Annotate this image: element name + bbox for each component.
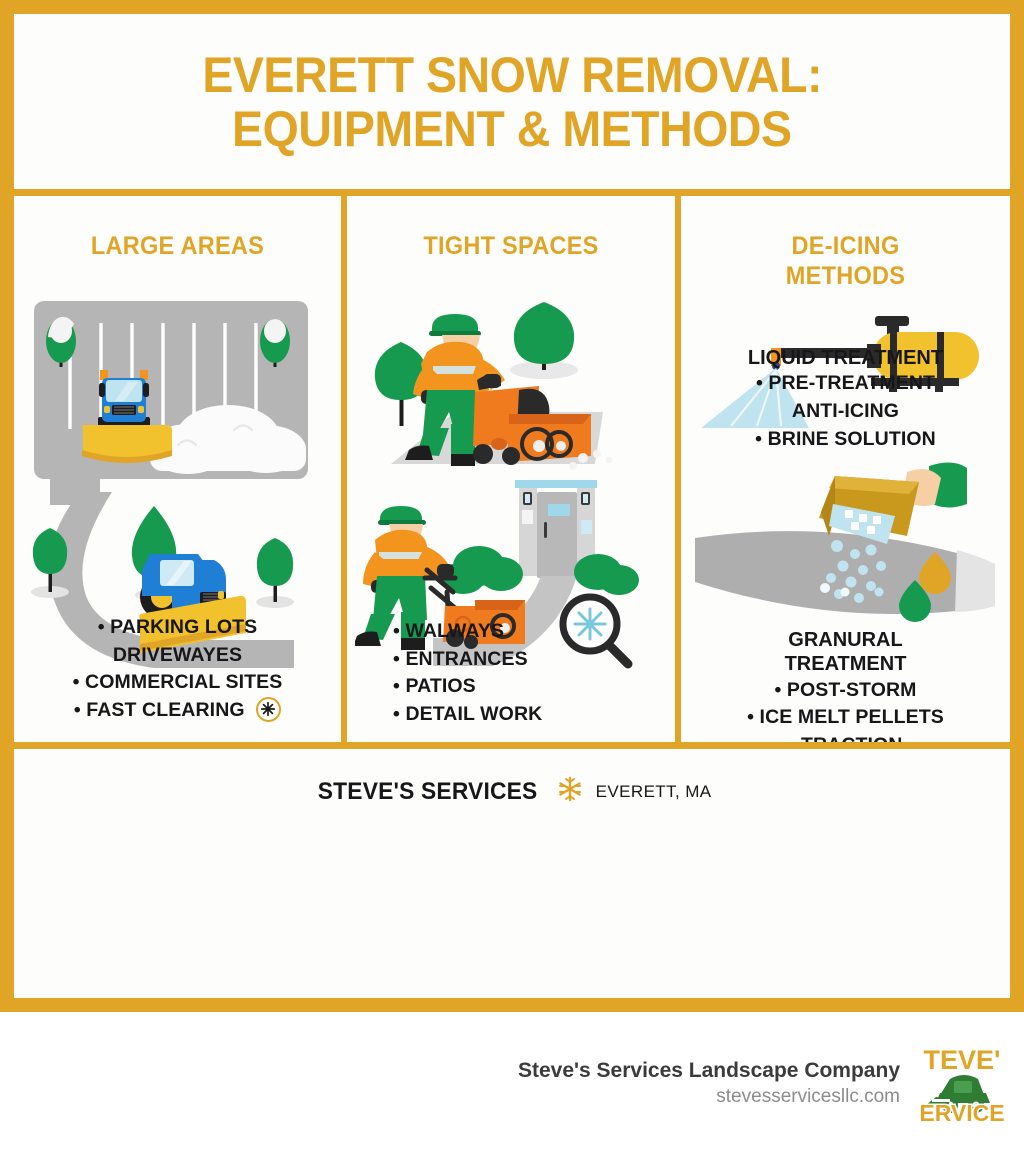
bullet-item: DRIVEWAYES [14, 642, 341, 670]
bullet-list-granular: • POST-STORM • ICE MELT PELLETS • TRACTI… [681, 677, 1010, 742]
footer-band: STEVE'S SERVICES [14, 749, 1010, 998]
parking-lot-plow-truck-illustration [28, 297, 328, 505]
logo-top-text: TEVE' [924, 1045, 1001, 1075]
granular-treatment-title-line-2: TREATMENT [681, 652, 1010, 676]
attribution-website[interactable]: stevesservicesllc.com [518, 1084, 900, 1110]
bullet-item: • PARKING LOTS [14, 614, 341, 642]
attribution-company-name: Steve's Services Landscape Company [518, 1057, 900, 1084]
column-de-icing-methods: DE-ICING METHODS [675, 196, 1010, 742]
column-heading-de-icing-line-1: DE-ICING [691, 232, 1000, 262]
footer-divider [14, 742, 1010, 749]
bullet-item: • ICE MELT PELLETS [681, 704, 1010, 732]
company-logo[interactable]: TEVE' ERVICE [914, 1035, 1010, 1131]
column-heading-large-areas: LARGE AREAS [24, 232, 331, 262]
column-large-areas: LARGE AREAS [14, 196, 341, 742]
snowflake-icon [256, 697, 281, 722]
page-title-line-1: EVERETT SNOW REMOVAL: [202, 48, 822, 102]
worker-snow-blower-illustration [359, 296, 659, 486]
bullet-item: • BRINE SOLUTION [681, 426, 1010, 454]
footer-brand-group: STEVE'S SERVICES [312, 776, 711, 807]
column-heading-tight-spaces: TIGHT SPACES [357, 232, 665, 262]
column-heading-de-icing-line-2: METHODS [691, 262, 1000, 292]
bullet-item: • POST-STORM [681, 677, 1010, 705]
bullet-item-label: • FAST CLEARING [74, 699, 245, 721]
bullet-list-tight-spaces: • WALWAYS • ENTRANCES • PATIOS • DETAIL … [347, 618, 675, 729]
footer-city-label: EVERETT, MA [596, 782, 712, 802]
granular-spreader-scoop-illustration [685, 458, 1001, 628]
bullet-item: • WALWAYS [393, 618, 675, 646]
attribution-text: Steve's Services Landscape Company steve… [518, 1057, 900, 1110]
columns-container: LARGE AREAS [14, 196, 1010, 742]
column-tight-spaces: TIGHT SPACES [341, 196, 675, 742]
logo-bottom-text: ERVICE [919, 1100, 1004, 1126]
bullet-item: • DETAIL WORK [393, 701, 675, 729]
poster-header: EVERETT SNOW REMOVAL: EQUIPMENT & METHOD… [14, 14, 1010, 189]
bullet-list-liquid: • PRE-TREATMENT ANTI-ICING • BRINE SOLUT… [681, 370, 1010, 453]
page-title-line-2: EQUIPMENT & METHODS [232, 102, 792, 156]
gold-frame: EVERETT SNOW REMOVAL: EQUIPMENT & METHOD… [0, 0, 1024, 1012]
bullet-item: • TRACTION [681, 732, 1010, 742]
granular-treatment-block: GRANURAL TREATMENT • POST-STORM • ICE ME… [681, 628, 1010, 742]
bullet-list-large-areas: • PARKING LOTS DRIVEWAYES • COMMERCIAL S… [14, 614, 341, 725]
granular-treatment-title-line-1: GRANURAL [681, 628, 1010, 652]
snowflake-icon [557, 776, 583, 807]
bullet-item: • ENTRANCES [393, 646, 675, 674]
liquid-treatment-block: LIQUID TREATMENT • PRE-TREATMENT ANTI-IC… [681, 346, 1010, 453]
infographic-poster: EVERETT SNOW REMOVAL: EQUIPMENT & METHOD… [0, 0, 1024, 1154]
bullet-item: ANTI-ICING [681, 398, 1010, 426]
bullet-item-fast-clearing: • FAST CLEARING [14, 697, 341, 725]
attribution-bar: Steve's Services Landscape Company steve… [0, 1012, 1024, 1154]
bullet-item: • PRE-TREATMENT [681, 370, 1010, 398]
footer-brand-name: STEVE'S SERVICES [318, 778, 538, 806]
bullet-item: • COMMERCIAL SITES [14, 669, 341, 697]
header-divider [14, 189, 1010, 196]
liquid-treatment-title: LIQUID TREATMENT [681, 346, 1010, 370]
bullet-item: • PATIOS [393, 673, 675, 701]
frame-inner: EVERETT SNOW REMOVAL: EQUIPMENT & METHOD… [14, 14, 1010, 998]
